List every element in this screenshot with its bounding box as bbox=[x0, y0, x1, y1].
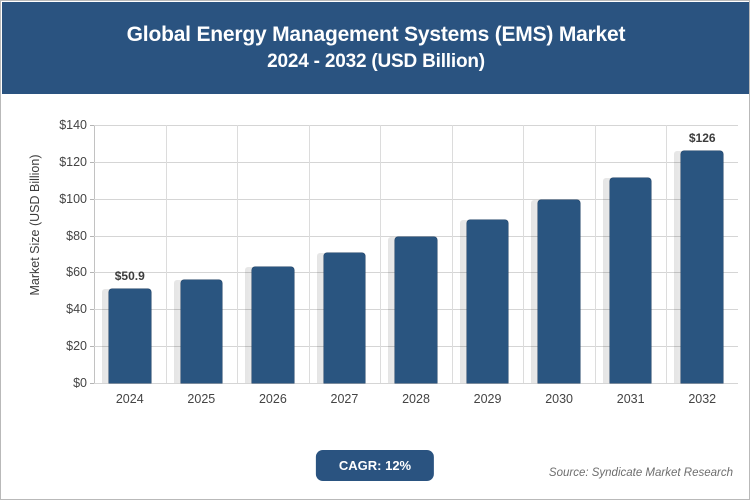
chart-plot-area: Market Size (USD Billion) $0$20$40$60$80… bbox=[2, 94, 750, 499]
bar-2027[interactable] bbox=[324, 253, 366, 383]
y-tick-label: $120 bbox=[59, 155, 87, 169]
y-tick-mark bbox=[90, 125, 94, 126]
bar-2032[interactable] bbox=[681, 151, 723, 383]
y-tick-mark bbox=[90, 309, 94, 310]
vertical-gridline bbox=[309, 125, 310, 383]
x-tick-label-2027: 2027 bbox=[331, 392, 359, 406]
x-tick-label-2025: 2025 bbox=[187, 392, 215, 406]
vertical-gridline bbox=[237, 125, 238, 383]
y-tick-label: $0 bbox=[73, 376, 87, 390]
y-tick-label: $40 bbox=[66, 302, 87, 316]
vertical-gridline bbox=[380, 125, 381, 383]
gridline bbox=[94, 125, 738, 126]
y-tick-mark bbox=[90, 236, 94, 237]
y-axis-line bbox=[94, 125, 95, 383]
y-tick-mark bbox=[90, 272, 94, 273]
vertical-gridline bbox=[166, 125, 167, 383]
chart-figure: Global Energy Management Systems (EMS) M… bbox=[0, 0, 750, 500]
x-tick-label-2024: 2024 bbox=[116, 392, 144, 406]
vertical-gridline bbox=[452, 125, 453, 383]
vertical-gridline bbox=[523, 125, 524, 383]
y-tick-label: $20 bbox=[66, 339, 87, 353]
page-subtitle: 2024 - 2032 (USD Billion) bbox=[267, 49, 485, 75]
y-tick-label: $100 bbox=[59, 192, 87, 206]
bar-2024[interactable] bbox=[109, 289, 151, 383]
y-tick-label: $140 bbox=[59, 118, 87, 132]
bar-value-label: $126 bbox=[689, 131, 716, 145]
cagr-badge: CAGR: 12% bbox=[316, 450, 434, 481]
bar-2026[interactable] bbox=[252, 267, 294, 383]
x-tick-label-2030: 2030 bbox=[545, 392, 573, 406]
page-title: Global Energy Management Systems (EMS) M… bbox=[127, 21, 626, 49]
bar-chart: $0$20$40$60$80$100$120$140$50.9202420252… bbox=[94, 125, 738, 383]
bar-2029[interactable] bbox=[467, 220, 509, 383]
y-tick-mark bbox=[90, 199, 94, 200]
x-tick-label-2032: 2032 bbox=[688, 392, 716, 406]
x-tick-label-2031: 2031 bbox=[617, 392, 645, 406]
source-note: Source: Syndicate Market Research bbox=[549, 467, 733, 479]
gridline bbox=[94, 383, 738, 384]
vertical-gridline bbox=[666, 125, 667, 383]
bar-2030[interactable] bbox=[538, 200, 580, 383]
bar-2025[interactable] bbox=[181, 280, 223, 383]
chart-header: Global Energy Management Systems (EMS) M… bbox=[2, 2, 750, 94]
y-axis-label: Market Size (USD Billion) bbox=[28, 96, 42, 354]
bar-value-label: $50.9 bbox=[115, 269, 145, 283]
y-tick-label: $60 bbox=[66, 265, 87, 279]
x-tick-label-2029: 2029 bbox=[474, 392, 502, 406]
vertical-gridline bbox=[595, 125, 596, 383]
y-tick-label: $80 bbox=[66, 229, 87, 243]
y-tick-mark bbox=[90, 346, 94, 347]
bar-2028[interactable] bbox=[395, 237, 437, 383]
x-tick-label-2026: 2026 bbox=[259, 392, 287, 406]
bar-2031[interactable] bbox=[610, 178, 652, 383]
gridline bbox=[94, 162, 738, 163]
y-tick-mark bbox=[90, 162, 94, 163]
y-tick-mark bbox=[90, 383, 94, 384]
x-tick-label-2028: 2028 bbox=[402, 392, 430, 406]
